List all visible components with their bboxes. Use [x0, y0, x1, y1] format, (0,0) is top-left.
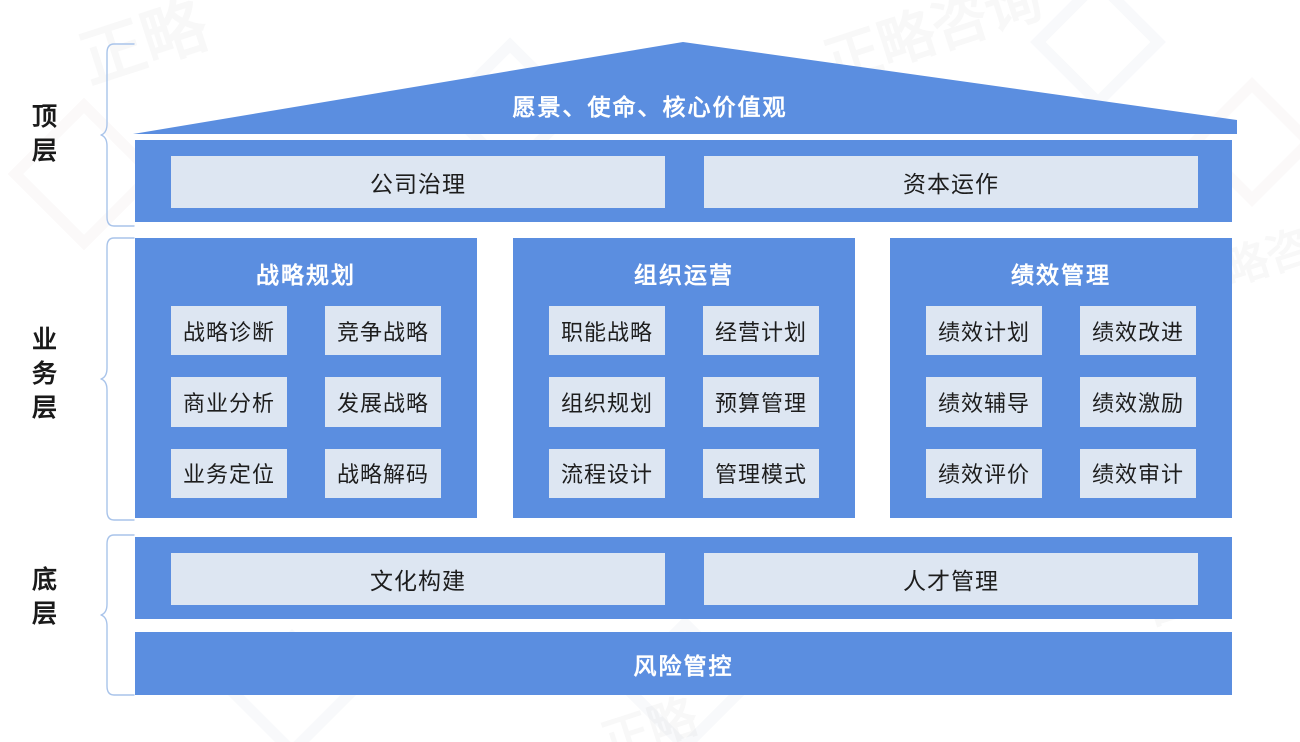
- business-item[interactable]: 业务定位: [171, 449, 287, 498]
- business-item[interactable]: 绩效审计: [1080, 449, 1196, 498]
- business-item[interactable]: 流程设计: [549, 449, 665, 498]
- business-item[interactable]: 绩效激励: [1080, 377, 1196, 426]
- business-item[interactable]: 经营计划: [703, 306, 819, 355]
- business-column-title: 绩效管理: [890, 256, 1232, 290]
- business-column-title: 战略规划: [135, 256, 477, 290]
- business-item[interactable]: 预算管理: [703, 377, 819, 426]
- business-column-grid: 战略诊断 竞争战略 商业分析 发展战略 业务定位 战略解码: [171, 306, 441, 498]
- layer-label-bottom: 底层: [22, 563, 68, 631]
- foundation-band[interactable]: 风险管控: [135, 632, 1232, 695]
- business-column-title: 组织运营: [513, 256, 855, 290]
- business-item[interactable]: 战略诊断: [171, 306, 287, 355]
- layer-brace-business: [100, 236, 136, 522]
- bottom-layer-item-label: 人才管理: [903, 562, 999, 596]
- business-item[interactable]: 绩效计划: [926, 306, 1042, 355]
- bottom-layer-item-talent-management[interactable]: 人才管理: [704, 553, 1198, 605]
- top-layer-item-capital-operation[interactable]: 资本运作: [704, 156, 1198, 208]
- business-item[interactable]: 职能战略: [549, 306, 665, 355]
- business-item[interactable]: 商业分析: [171, 377, 287, 426]
- bottom-layer-item-label: 文化构建: [370, 562, 466, 596]
- business-column-strategy-planning: 战略规划 战略诊断 竞争战略 商业分析 发展战略 业务定位 战略解码: [135, 238, 477, 518]
- business-item[interactable]: 绩效辅导: [926, 377, 1042, 426]
- business-item[interactable]: 管理模式: [703, 449, 819, 498]
- roof-label: 愿景、使命、核心价值观: [0, 88, 1300, 122]
- business-column-grid: 绩效计划 绩效改进 绩效辅导 绩效激励 绩效评价 绩效审计: [926, 306, 1196, 498]
- top-layer-item-corporate-governance[interactable]: 公司治理: [171, 156, 665, 208]
- top-layer-item-label: 资本运作: [903, 165, 999, 199]
- business-item[interactable]: 绩效评价: [926, 449, 1042, 498]
- diagram-canvas: 正略 正略咨询 咨询 正略咨询 正略 咨询 正略咨询 顶层 业务层 底层 愿景、…: [0, 0, 1300, 742]
- business-column-organization-operation: 组织运营 职能战略 经营计划 组织规划 预算管理 流程设计 管理模式: [513, 238, 855, 518]
- layer-label-business: 业务层: [22, 323, 68, 425]
- top-layer-item-label: 公司治理: [370, 165, 466, 199]
- business-item[interactable]: 发展战略: [325, 377, 441, 426]
- layer-brace-bottom: [100, 533, 136, 697]
- business-column-performance-management: 绩效管理 绩效计划 绩效改进 绩效辅导 绩效激励 绩效评价 绩效审计: [890, 238, 1232, 518]
- business-item[interactable]: 绩效改进: [1080, 306, 1196, 355]
- business-item[interactable]: 竞争战略: [325, 306, 441, 355]
- bottom-layer-item-culture-building[interactable]: 文化构建: [171, 553, 665, 605]
- business-column-grid: 职能战略 经营计划 组织规划 预算管理 流程设计 管理模式: [549, 306, 819, 498]
- business-item[interactable]: 战略解码: [325, 449, 441, 498]
- business-item[interactable]: 组织规划: [549, 377, 665, 426]
- foundation-label: 风险管控: [135, 632, 1232, 695]
- layer-brace-top: [100, 42, 136, 228]
